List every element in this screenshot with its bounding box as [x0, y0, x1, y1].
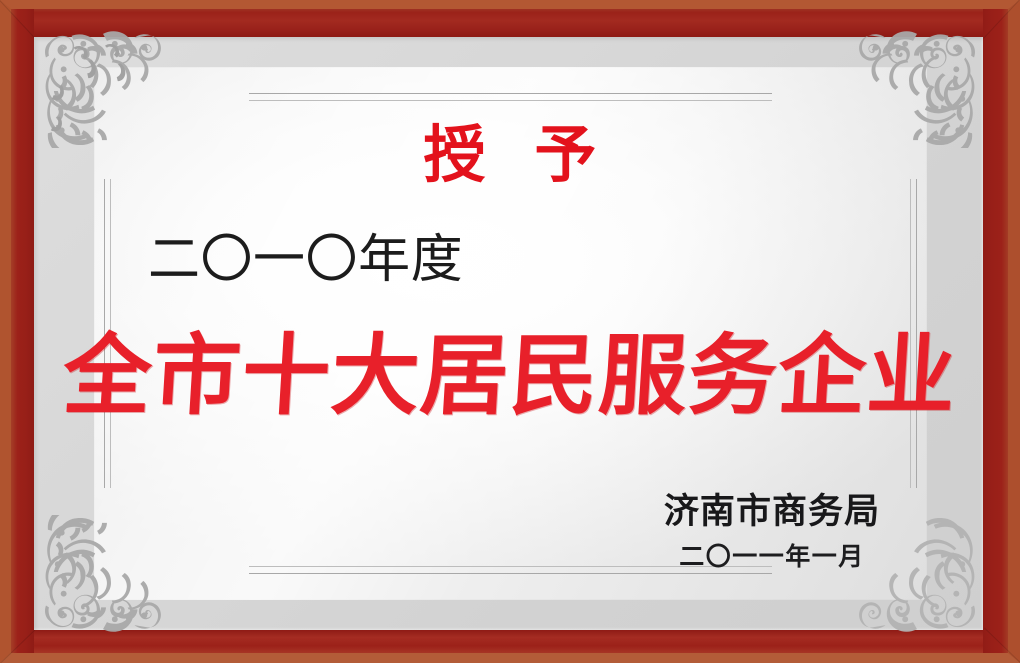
frame-rail-top	[0, 0, 1020, 37]
rule-left-inner	[110, 179, 111, 488]
award-plaque: 授 予 二〇一〇年度 全市十大居民服务企业 济南市商务局 二〇一一年一月	[0, 0, 1020, 663]
rule-bottom-inner	[249, 566, 772, 567]
rule-top-inner	[249, 100, 772, 101]
rule-right-outer	[916, 179, 917, 488]
frame-rail-bottom	[0, 630, 1020, 663]
frame-rail-right	[983, 0, 1020, 663]
mat-border	[34, 37, 983, 630]
miter-seam-top-left	[0, 0, 35, 39]
miter-seam-bottom-right	[984, 628, 1020, 663]
rule-top-outer	[249, 93, 772, 94]
certificate-panel	[94, 67, 927, 600]
rule-bottom-outer	[249, 573, 772, 574]
miter-seam-bottom-left	[0, 630, 35, 663]
miter-seam-top-right	[983, 0, 1020, 39]
panel-gloss-overlay	[94, 67, 927, 600]
rule-left-outer	[104, 179, 105, 488]
frame-rail-left	[0, 0, 34, 663]
rule-right-inner	[910, 179, 911, 488]
